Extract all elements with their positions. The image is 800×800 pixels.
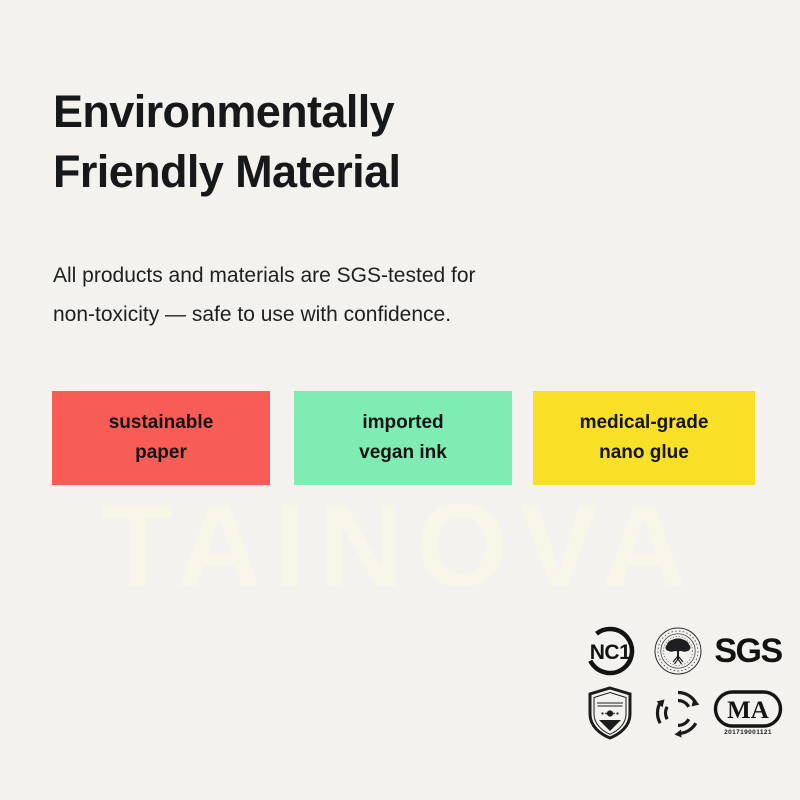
nc1-certification-icon: NC1: [584, 625, 636, 677]
cma-certification-icon: MA: [713, 689, 783, 729]
material-badge-label-line-2: vegan ink: [359, 438, 447, 468]
material-badge-label-line-1: imported: [362, 408, 443, 438]
recycling-symbol-icon: [652, 687, 704, 739]
material-badge-label-line-2: paper: [135, 438, 187, 468]
page-subtitle-line-1: All products and materials are SGS-teste…: [53, 257, 673, 296]
fsc-forest-tree-icon: [652, 625, 704, 677]
sgs-certification-icon: SGS: [714, 634, 781, 668]
page-title: Environmentally Friendly Material: [53, 82, 713, 202]
material-badge-medical-grade-nano-glue: medical-grade nano glue: [533, 391, 755, 485]
material-badge-label-line-1: medical-grade: [580, 408, 709, 438]
page-subtitle-line-2: non-toxicity — safe to use with confiden…: [53, 296, 673, 335]
material-badge-label-line-2: nano glue: [599, 438, 689, 468]
cma-certification-number: 201719001121: [724, 730, 772, 737]
cert-cell-sgs: SGS: [713, 622, 783, 680]
page-title-line-1: Environmentally: [53, 82, 713, 142]
material-badge-label-line-1: sustainable: [109, 408, 214, 438]
cert-cell-nc1: NC1: [577, 622, 642, 680]
material-badge-imported-vegan-ink: imported vegan ink: [294, 391, 512, 485]
material-badge-sustainable-paper: sustainable paper: [52, 391, 270, 485]
certification-logo-grid: NC1 SGS: [577, 622, 783, 742]
svg-text:NC1: NC1: [589, 641, 630, 664]
page-subtitle: All products and materials are SGS-teste…: [53, 257, 673, 335]
cert-cell-fsc-tree: [645, 622, 710, 680]
svg-text:MA: MA: [727, 697, 769, 724]
cert-cell-cma: MA 201719001121: [713, 684, 783, 742]
material-badge-row: sustainable paper imported vegan ink med…: [52, 391, 755, 485]
cert-cell-recycling: [645, 684, 710, 742]
cert-cell-quality-shield: [577, 684, 642, 742]
brand-watermark: TAINOVA: [0, 486, 800, 606]
page-title-line-2: Friendly Material: [53, 142, 713, 202]
quality-shield-icon: [586, 686, 634, 740]
